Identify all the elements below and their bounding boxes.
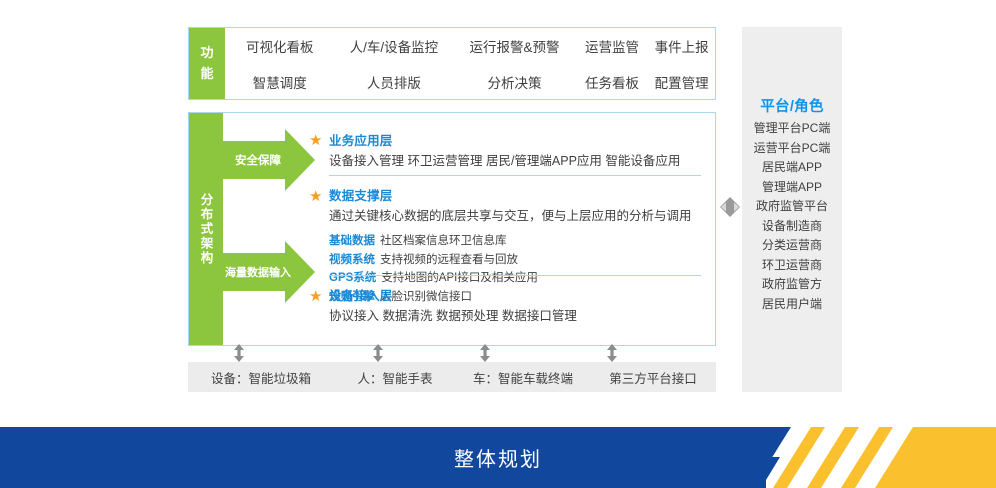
architecture-vertical-label: 分布式架构 bbox=[189, 113, 223, 345]
bottom-banner: 整体规划 bbox=[0, 427, 996, 488]
layer-divider-2 bbox=[329, 275, 701, 276]
sub-item-basic-data-value: 社区档案信息环卫信息库 bbox=[380, 235, 507, 247]
layer-device-desc: 协议接入 数据清洗 数据预处理 数据接口管理 bbox=[329, 307, 701, 325]
role-item-resident-user[interactable]: 居民用户端 bbox=[742, 295, 842, 315]
vertical-double-arrow-icon bbox=[371, 344, 385, 362]
diamond-double-arrow-icon bbox=[718, 195, 742, 219]
layer-data-desc: 通过关键核心数据的底层共享与交互，便与上层应用的分析与调用 bbox=[329, 207, 701, 225]
role-panel-title: 平台/角色 bbox=[742, 95, 842, 116]
role-panel: 平台/角色 管理平台PC端 运营平台PC端 居民端APP 管理端APP 政府监管… bbox=[742, 27, 842, 392]
sub-item-basic-data: 基础数据社区档案信息环卫信息库 bbox=[329, 232, 701, 251]
layer-divider-1 bbox=[329, 175, 701, 176]
arrow-data-input-label: 海量数据输入 bbox=[223, 241, 297, 303]
function-item-smart-dispatch[interactable]: 智慧调度 bbox=[225, 72, 335, 92]
sub-item-video-system-value: 支持视频的远程查看与回放 bbox=[380, 254, 518, 266]
layer-business-title: 业务应用层 bbox=[329, 130, 701, 149]
arrow-data-input: 海量数据输入 bbox=[223, 241, 315, 303]
function-rows: 可视化看板 人/车/设备监控 运行报警&预警 运营监管 事件上报 智慧调度 人员… bbox=[225, 28, 715, 99]
function-item-staff-scheduling[interactable]: 人员排版 bbox=[335, 72, 454, 92]
banner-stripes-decoration bbox=[766, 427, 996, 488]
sub-item-video-system-key: 视频系统 bbox=[329, 254, 375, 266]
role-item-operation-platform-pc[interactable]: 运营平台PC端 bbox=[742, 139, 842, 159]
star-icon: ★ bbox=[309, 189, 322, 204]
function-panel: 功 能 可视化看板 人/车/设备监控 运行报警&预警 运营监管 事件上报 智慧调… bbox=[188, 27, 716, 100]
function-row-2: 智慧调度 人员排版 分析决策 任务看板 配置管理 bbox=[225, 64, 715, 100]
function-label-char-2: 能 bbox=[200, 64, 213, 84]
function-label-char-1: 功 bbox=[200, 43, 213, 63]
role-item-resident-app[interactable]: 居民端APP bbox=[742, 158, 842, 178]
role-list: 管理平台PC端 运营平台PC端 居民端APP 管理端APP 政府监管平台 设备制… bbox=[742, 119, 842, 314]
function-item-event-report[interactable]: 事件上报 bbox=[648, 36, 715, 56]
role-item-device-manufacturer[interactable]: 设备制造商 bbox=[742, 217, 842, 237]
slide-canvas: 功 能 可视化看板 人/车/设备监控 运行报警&预警 运营监管 事件上报 智慧调… bbox=[0, 0, 996, 488]
arrow-security-label: 安全保障 bbox=[223, 129, 297, 191]
vertical-double-arrow-icon bbox=[232, 344, 246, 362]
vertical-double-arrow-icon bbox=[478, 344, 492, 362]
sub-item-basic-data-key: 基础数据 bbox=[329, 235, 375, 247]
star-icon: ★ bbox=[309, 289, 322, 304]
function-item-task-board[interactable]: 任务看板 bbox=[576, 72, 648, 92]
function-item-config-management[interactable]: 配置管理 bbox=[648, 72, 715, 92]
layer-data-title: 数据支撑层 bbox=[329, 185, 701, 204]
device-item-smart-watch[interactable]: 人：智能手表 bbox=[334, 368, 456, 387]
device-item-vehicle-terminal[interactable]: 车：智能车载终端 bbox=[456, 368, 590, 387]
function-item-operation-supervision[interactable]: 运营监管 bbox=[576, 36, 648, 56]
role-item-government-regulator[interactable]: 政府监管方 bbox=[742, 275, 842, 295]
layer-device-body: 设备接入层 协议接入 数据清洗 数据预处理 数据接口管理 bbox=[329, 285, 701, 325]
layer-business-desc: 设备接入管理 环卫运营管理 居民/管理端APP应用 智能设备应用 bbox=[329, 152, 701, 170]
layer-device-access: ★ 设备接入层 协议接入 数据清洗 数据预处理 数据接口管理 bbox=[309, 285, 701, 325]
layer-business-body: 业务应用层 设备接入管理 环卫运营管理 居民/管理端APP应用 智能设备应用 bbox=[329, 130, 701, 170]
role-item-admin-app[interactable]: 管理端APP bbox=[742, 178, 842, 198]
star-icon: ★ bbox=[309, 133, 322, 148]
function-row-1: 可视化看板 人/车/设备监控 运行报警&预警 运营监管 事件上报 bbox=[225, 28, 715, 64]
layer-business-application: ★ 业务应用层 设备接入管理 环卫运营管理 居民/管理端APP应用 智能设备应用 bbox=[309, 130, 701, 170]
architecture-panel: 分布式架构 安全保障 海量数据输入 ★ 业务应用层 设备接入管理 环卫运营管理 … bbox=[188, 112, 716, 346]
layer-device-title: 设备接入层 bbox=[329, 285, 701, 304]
role-item-admin-platform-pc[interactable]: 管理平台PC端 bbox=[742, 119, 842, 139]
device-item-smart-bin[interactable]: 设备：智能垃圾箱 bbox=[188, 368, 334, 387]
function-item-monitoring[interactable]: 人/车/设备监控 bbox=[335, 36, 454, 56]
role-item-government-supervision-platform[interactable]: 政府监管平台 bbox=[742, 197, 842, 217]
function-item-visual-board[interactable]: 可视化看板 bbox=[225, 36, 335, 56]
function-item-alarm[interactable]: 运行报警&预警 bbox=[453, 36, 576, 56]
arrow-security: 安全保障 bbox=[223, 129, 315, 191]
vertical-double-arrow-icon bbox=[605, 344, 619, 362]
sub-item-video-system: 视频系统支持视频的远程查看与回放 bbox=[329, 251, 701, 270]
role-item-sorting-operator[interactable]: 分类运营商 bbox=[742, 236, 842, 256]
function-item-analysis-decision[interactable]: 分析决策 bbox=[453, 72, 576, 92]
function-panel-label: 功 能 bbox=[189, 28, 225, 99]
role-item-sanitation-operator[interactable]: 环卫运营商 bbox=[742, 256, 842, 276]
device-item-third-party-api[interactable]: 第三方平台接口 bbox=[590, 368, 716, 387]
device-bar: 设备：智能垃圾箱 人：智能手表 车：智能车载终端 第三方平台接口 bbox=[188, 362, 716, 392]
